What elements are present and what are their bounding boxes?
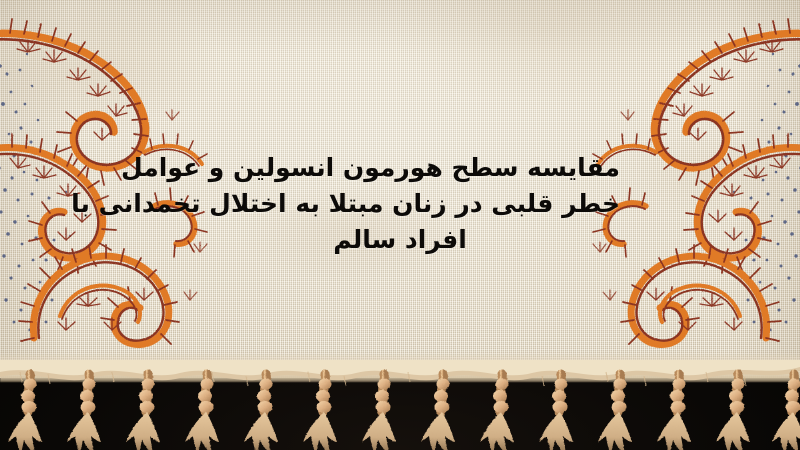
- title-slide: مقایسه سطح هورمون انسولین و عوامل خطر قل…: [0, 0, 800, 450]
- slide-title: مقایسه سطح هورمون انسولین و عوامل خطر قل…: [180, 150, 620, 258]
- title-line-1: مقایسه سطح هورمون انسولین و عوامل: [180, 150, 620, 186]
- title-line-3: افراد سالم: [180, 222, 620, 258]
- title-line-2: خطر قلبی در زنان مبتلا به اختلال تخمدانی…: [180, 186, 620, 222]
